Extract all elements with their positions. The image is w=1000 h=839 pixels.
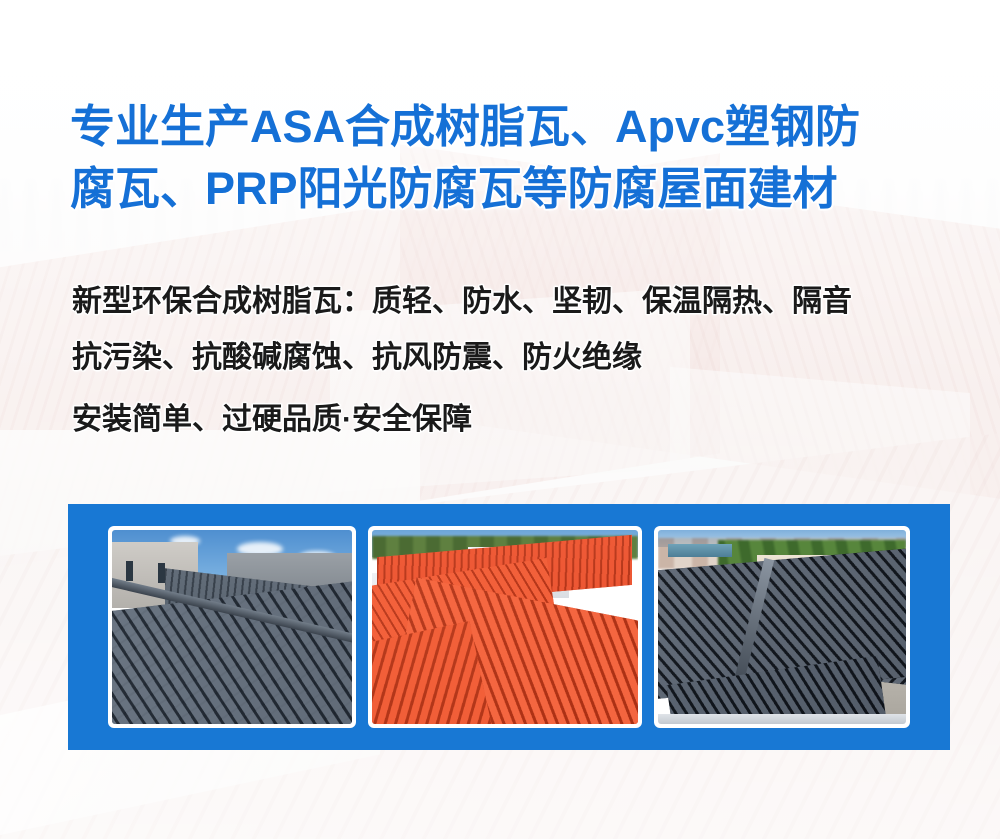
product-banner: 专业生产ASA合成树脂瓦、Apvc塑钢防 腐瓦、PRP阳光防腐瓦等防腐屋面建材 … [0,0,1000,839]
photo-frame-2[interactable] [368,526,642,728]
photo1-window-b [158,563,165,583]
headline: 专业生产ASA合成树脂瓦、Apvc塑钢防 腐瓦、PRP阳光防腐瓦等防腐屋面建材 [70,96,950,220]
dark-resin-tile-roof-photo [658,530,906,724]
photo-frame-1[interactable] [108,526,356,728]
grey-resin-tile-roof-photo [112,530,352,724]
feature-line-3: 安装简单、过硬品质·安全保障 [72,392,972,448]
photo-gallery-panel [68,504,950,750]
photo1-window-a [126,561,133,581]
red-resin-tile-roof-photo [372,530,638,724]
headline-line-1: 专业生产ASA合成树脂瓦、Apvc塑钢防 [70,96,950,158]
feature-list: 新型环保合成树脂瓦：质轻、防水、坚韧、保温隔热、隔音 抗污染、抗酸碱腐蚀、抗风防… [72,274,972,448]
banner-content: 专业生产ASA合成树脂瓦、Apvc塑钢防 腐瓦、PRP阳光防腐瓦等防腐屋面建材 … [0,0,1000,839]
feature-line-2: 抗污染、抗酸碱腐蚀、抗风防震、防火绝缘 [72,330,972,386]
photo3-bottom-strip [658,714,906,724]
headline-line-2: 腐瓦、PRP阳光防腐瓦等防腐屋面建材 [70,158,950,220]
photo-frame-3[interactable] [654,526,910,728]
photo3-blue-roof-shed [668,544,732,558]
feature-line-1: 新型环保合成树脂瓦：质轻、防水、坚韧、保温隔热、隔音 [72,274,972,330]
